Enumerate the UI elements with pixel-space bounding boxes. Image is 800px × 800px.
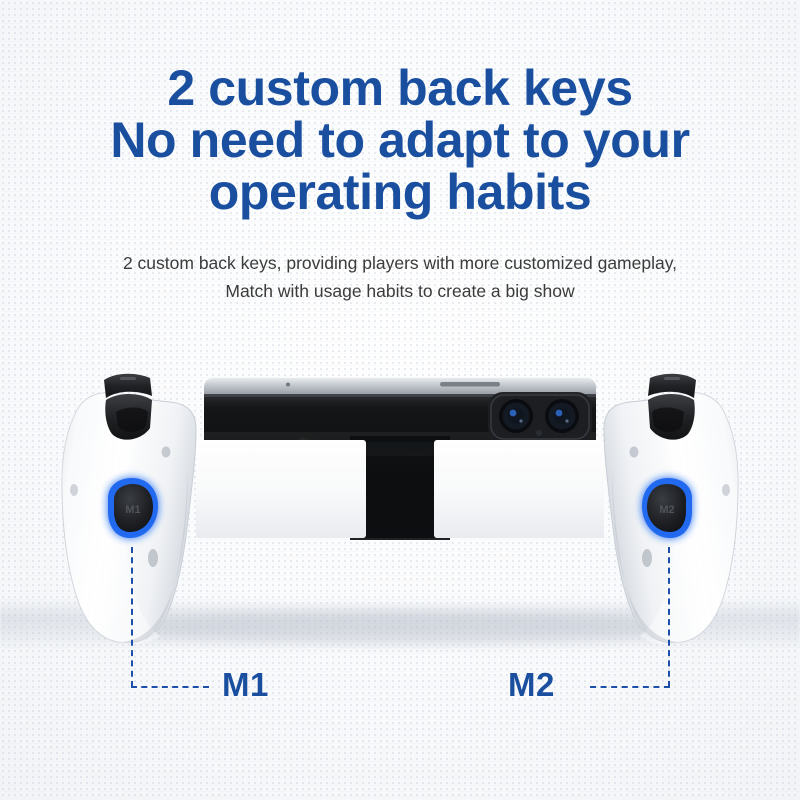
left-grip-screw <box>162 447 171 458</box>
phone-mic-hole <box>286 383 290 387</box>
bridge-left-gloss <box>196 440 366 538</box>
m1-pad-label: M1 <box>125 504 140 516</box>
phone-speaker-slot <box>440 382 500 387</box>
right-shoulder-triggers[interactable] <box>648 374 696 440</box>
right-grip-screw <box>630 447 639 458</box>
camera-flash <box>536 430 542 436</box>
left-shoulder-triggers[interactable] <box>104 374 152 440</box>
phone-camera-module <box>488 392 592 442</box>
right-grip-lower-vent <box>642 549 652 567</box>
bridge-slot <box>366 442 434 456</box>
product-marketing-banner: 2 custom back keys No need to adapt to y… <box>0 0 800 800</box>
camera-lens-2 <box>545 399 579 433</box>
bridge-right-gloss <box>434 440 604 538</box>
callout-label-m1: M1 <box>222 668 269 701</box>
m2-pad-label: M2 <box>659 504 674 516</box>
camera-lens-1 <box>499 399 533 433</box>
right-trigger-grip-lines <box>664 377 680 380</box>
device-contact-shadow <box>100 612 700 644</box>
callout-label-m2: M2 <box>508 668 555 701</box>
left-grip-lower-vent <box>148 549 158 567</box>
controller-right-grip: M2 <box>604 374 738 644</box>
product-image-controller: M1 M2 <box>0 0 800 800</box>
left-trigger-grip-lines <box>120 377 136 380</box>
right-grip-vent <box>722 484 730 496</box>
left-grip-vent <box>70 484 78 496</box>
controller-left-grip: M1 <box>62 374 196 644</box>
controller-bridge <box>196 436 604 540</box>
